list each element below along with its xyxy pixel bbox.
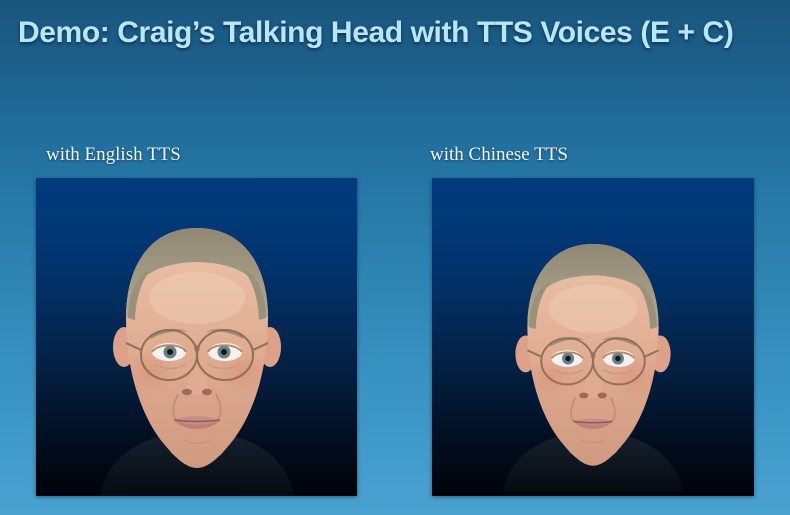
caption-english-tts: with English TTS	[46, 144, 181, 166]
caption-chinese-tts: with Chinese TTS	[430, 144, 568, 166]
avatar-nostril-left	[182, 389, 192, 395]
avatar-forehead-highlight	[149, 272, 245, 324]
video-panel-english[interactable]	[36, 178, 357, 496]
avatar-pupil-right	[615, 356, 621, 362]
avatar-face-illustration	[496, 238, 690, 492]
video-panel-chinese[interactable]	[432, 178, 754, 496]
avatar-nostril-right	[202, 389, 212, 395]
avatar-nostril-left	[579, 393, 588, 399]
talking-head-avatar-chinese	[432, 178, 754, 496]
avatar-forehead-highlight	[549, 285, 638, 333]
page-title: Demo: Craig’s Talking Head with TTS Voic…	[18, 12, 772, 56]
presentation-slide: Demo: Craig’s Talking Head with TTS Voic…	[0, 0, 790, 515]
talking-head-avatar-english	[36, 178, 357, 496]
avatar-nostril-right	[598, 393, 607, 399]
avatar-pupil-left	[167, 349, 173, 355]
avatar-face-illustration	[92, 222, 302, 496]
avatar-pupil-left	[565, 356, 571, 362]
avatar-pupil-right	[221, 349, 227, 355]
